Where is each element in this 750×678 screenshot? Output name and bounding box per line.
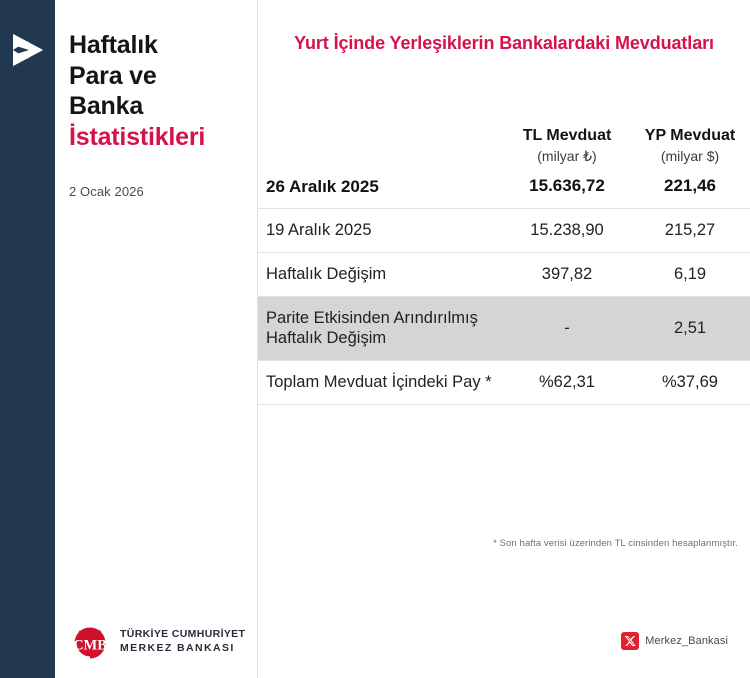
- chart-title: Yurt İçinde Yerleşiklerin Bankalardaki M…: [268, 32, 740, 56]
- column-header-yp-unit: (milyar $): [630, 148, 750, 165]
- column-header-tl-label: TL Mevduat: [523, 127, 612, 144]
- row-label: 26 Aralık 2025: [258, 165, 504, 209]
- chevron-right-icon: [10, 30, 44, 70]
- title-line-2: Para ve: [69, 61, 249, 92]
- row-value-yp: 2,51: [630, 296, 750, 361]
- row-value-yp: %37,69: [630, 361, 750, 405]
- table-header: TL Mevduat (milyar ₺) YP Mevduat (milyar…: [258, 126, 750, 165]
- row-value-yp: 6,19: [630, 252, 750, 296]
- row-value-tl: 15.636,72: [504, 165, 630, 209]
- table-row: Parite Etkisinden Arındırılmış Haftalık …: [258, 296, 750, 361]
- row-value-tl: %62,31: [504, 361, 630, 405]
- table-body: 26 Aralık 2025 15.636,72 221,46 19 Aralı…: [258, 165, 750, 405]
- row-label: Haftalık Değişim: [258, 252, 504, 296]
- social-handle-text: Merkez_Bankasi: [645, 635, 728, 647]
- main-content: Yurt İçinde Yerleşiklerin Bankalardaki M…: [258, 0, 750, 678]
- title-line-1: Haftalık: [69, 30, 249, 61]
- table-row: Toplam Mevduat İçindeki Pay * %62,31 %37…: [258, 361, 750, 405]
- tcmb-monogram-icon: CMB: [69, 622, 113, 662]
- page-title: Haftalık Para ve Banka İstatistikleri: [69, 30, 249, 152]
- row-value-yp: 221,46: [630, 165, 750, 209]
- column-header-tl: TL Mevduat (milyar ₺): [504, 126, 630, 165]
- table-row: 26 Aralık 2025 15.636,72 221,46: [258, 165, 750, 209]
- publication-date: 2 Ocak 2026: [69, 184, 144, 199]
- row-value-yp: 215,27: [630, 209, 750, 253]
- table-header-row: TL Mevduat (milyar ₺) YP Mevduat (milyar…: [258, 126, 750, 165]
- x-twitter-icon[interactable]: [621, 632, 639, 650]
- infographic-page: Haftalık Para ve Banka İstatistikleri 2 …: [0, 0, 750, 678]
- column-header-yp: YP Mevduat (milyar $): [630, 126, 750, 165]
- row-label: 19 Aralık 2025: [258, 209, 504, 253]
- row-value-tl: -: [504, 296, 630, 361]
- row-label: Parite Etkisinden Arındırılmış Haftalık …: [258, 296, 504, 361]
- title-line-3: Banka: [69, 91, 249, 122]
- title-line-4-accent: İstatistikleri: [69, 122, 249, 153]
- table-row: 19 Aralık 2025 15.238,90 215,27: [258, 209, 750, 253]
- deposits-table: TL Mevduat (milyar ₺) YP Mevduat (milyar…: [258, 126, 750, 405]
- social-handle-badge[interactable]: Merkez_Bankasi: [621, 632, 728, 650]
- cbrt-logo-line-1: TÜRKİYE CUMHURİYET: [120, 628, 245, 642]
- column-header-blank: [258, 126, 504, 165]
- table-footnote: * Son hafta verisi üzerinden TL cinsinde…: [258, 538, 738, 549]
- left-panel: Haftalık Para ve Banka İstatistikleri 2 …: [55, 0, 258, 678]
- cbrt-logo-text: TÜRKİYE CUMHURİYET MERKEZ BANKASI: [120, 628, 245, 656]
- column-header-tl-unit: (milyar ₺): [504, 148, 630, 165]
- row-value-tl: 15.238,90: [504, 209, 630, 253]
- column-header-yp-label: YP Mevduat: [645, 127, 735, 144]
- left-rail: [0, 0, 55, 678]
- cbrt-logo-line-2: MERKEZ BANKASI: [120, 642, 245, 656]
- row-label: Toplam Mevduat İçindeki Pay *: [258, 361, 504, 405]
- cbrt-logo: CMB TÜRKİYE CUMHURİYET MERKEZ BANKASI: [69, 622, 245, 662]
- row-value-tl: 397,82: [504, 252, 630, 296]
- table-row: Haftalık Değişim 397,82 6,19: [258, 252, 750, 296]
